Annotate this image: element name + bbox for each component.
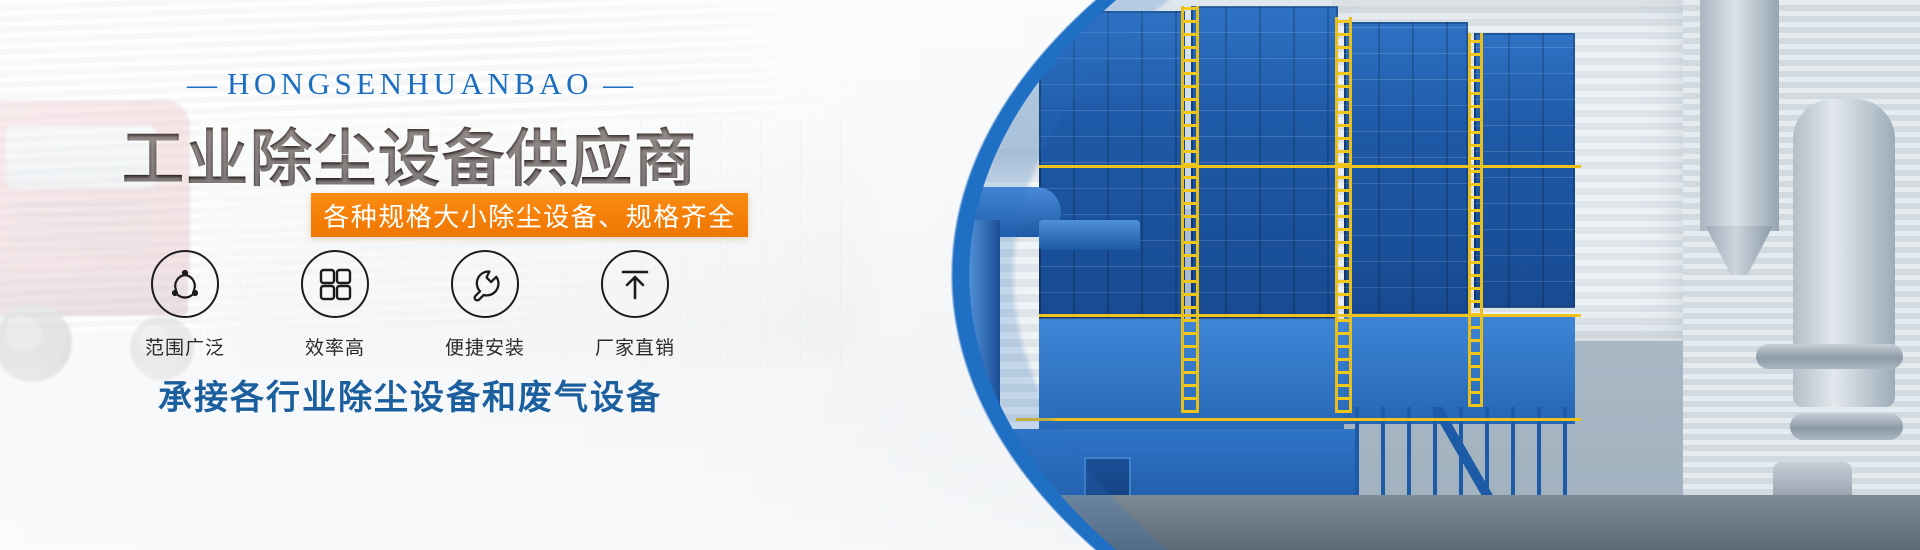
dust-collector-module [1191, 6, 1338, 320]
grid-four-squares-icon [301, 250, 369, 318]
yellow-ladder [1181, 6, 1199, 413]
feature-label: 便捷安装 [445, 333, 525, 360]
industrial-photo-arc [790, 0, 1920, 550]
feature-label: 效率高 [305, 333, 365, 360]
brand-pinyin: —HONGSENHUANBAO— [0, 66, 820, 102]
wrench-icon [451, 250, 519, 318]
photo-ground [790, 495, 1920, 550]
arrow-up-bar-icon [601, 250, 669, 318]
dash-left: — [177, 68, 227, 101]
hero-tagline: 承接各行业除尘设备和废气设备 [0, 370, 820, 419]
yellow-ladder [1468, 33, 1483, 407]
feature-item-range[interactable]: 范围广泛 [130, 250, 240, 360]
feature-label: 范围广泛 [145, 333, 225, 360]
blue-duct-vertical [944, 220, 1001, 440]
feature-item-factory-direct[interactable]: 厂家直销 [580, 250, 690, 360]
feature-label: 厂家直销 [595, 333, 675, 360]
photo-silo-upper [1700, 0, 1779, 231]
industrial-photo [790, 0, 1920, 550]
feature-item-efficiency[interactable]: 效率高 [280, 250, 390, 360]
hero-content: —HONGSENHUANBAO— 工业除尘设备供应商 各种规格大小除尘设备、规格… [0, 0, 900, 550]
gray-pipe [1790, 413, 1903, 441]
yellow-railing [1039, 314, 1581, 317]
dash-right: — [593, 68, 643, 101]
gray-pipe [1756, 344, 1903, 369]
feature-list: 范围广泛 效率高 [0, 250, 820, 360]
subtitle-orange-banner: 各种规格大小除尘设备、规格齐全 [311, 193, 748, 237]
yellow-ladder [1335, 17, 1352, 413]
page-title: 工业除尘设备供应商 [0, 108, 820, 198]
hero-banner: —HONGSENHUANBAO— 工业除尘设备供应商 各种规格大小除尘设备、规格… [0, 0, 1920, 550]
yellow-railing [1039, 165, 1581, 168]
yellow-railing [1016, 418, 1581, 421]
dust-collector-module [1474, 33, 1576, 308]
brand-pinyin-text: HONGSENHUANBAO [227, 66, 593, 101]
blue-duct-horizontal [1039, 220, 1141, 250]
network-dots-icon [151, 250, 219, 318]
feature-item-installation[interactable]: 便捷安装 [430, 250, 540, 360]
